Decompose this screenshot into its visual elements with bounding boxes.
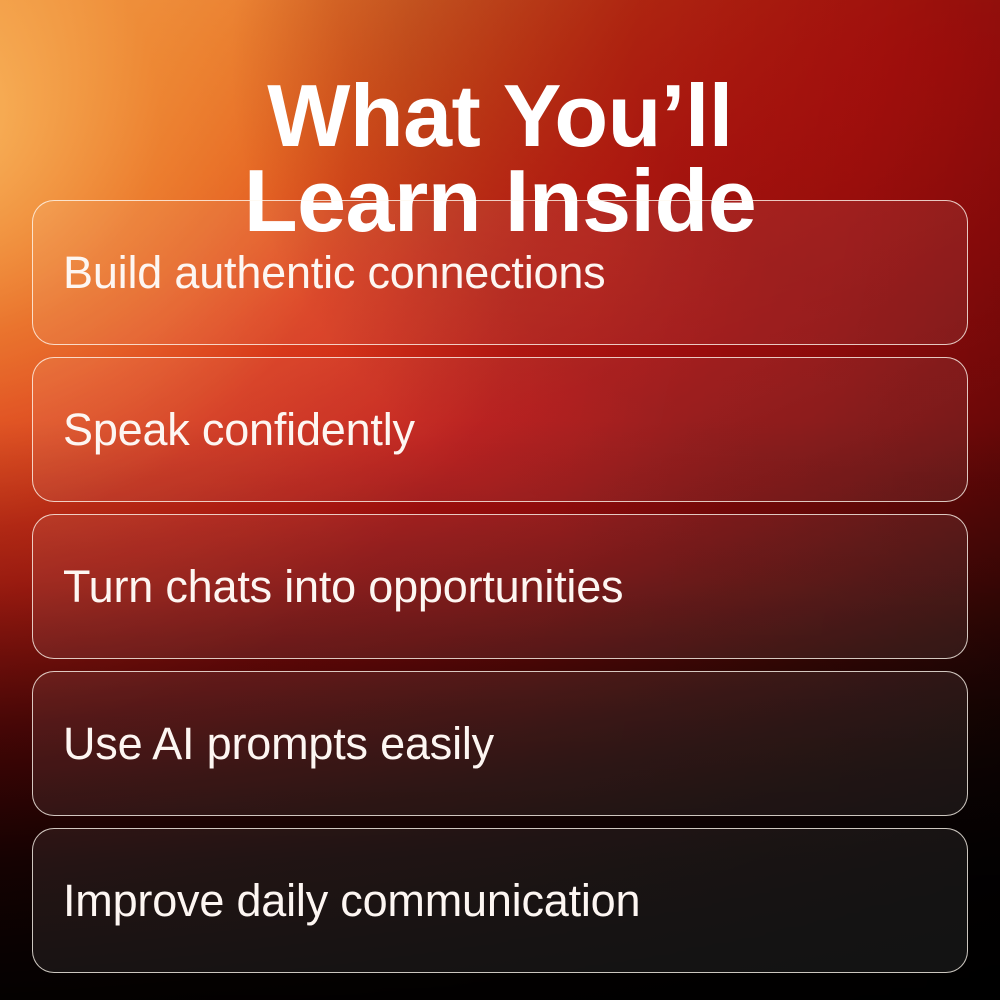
list-item-label: Speak confidently bbox=[63, 407, 415, 452]
poster-content: What You’ll Learn Inside Build authentic… bbox=[0, 0, 1000, 1000]
list-item-label: Use AI prompts easily bbox=[63, 721, 494, 766]
promo-poster: What You’ll Learn Inside Build authentic… bbox=[0, 0, 1000, 1000]
list-item-label: Build authentic connections bbox=[63, 250, 605, 295]
list-item[interactable]: Turn chats into opportunities bbox=[32, 514, 968, 659]
list-item-label: Improve daily communication bbox=[63, 878, 640, 923]
list-item[interactable]: Use AI prompts easily bbox=[32, 671, 968, 816]
list-item[interactable]: Improve daily communication bbox=[32, 828, 968, 973]
list-item[interactable]: Build authentic connections bbox=[32, 200, 968, 345]
list-item[interactable]: Speak confidently bbox=[32, 357, 968, 502]
benefits-list: Build authentic connections Speak confid… bbox=[32, 200, 968, 973]
list-item-label: Turn chats into opportunities bbox=[63, 564, 623, 609]
